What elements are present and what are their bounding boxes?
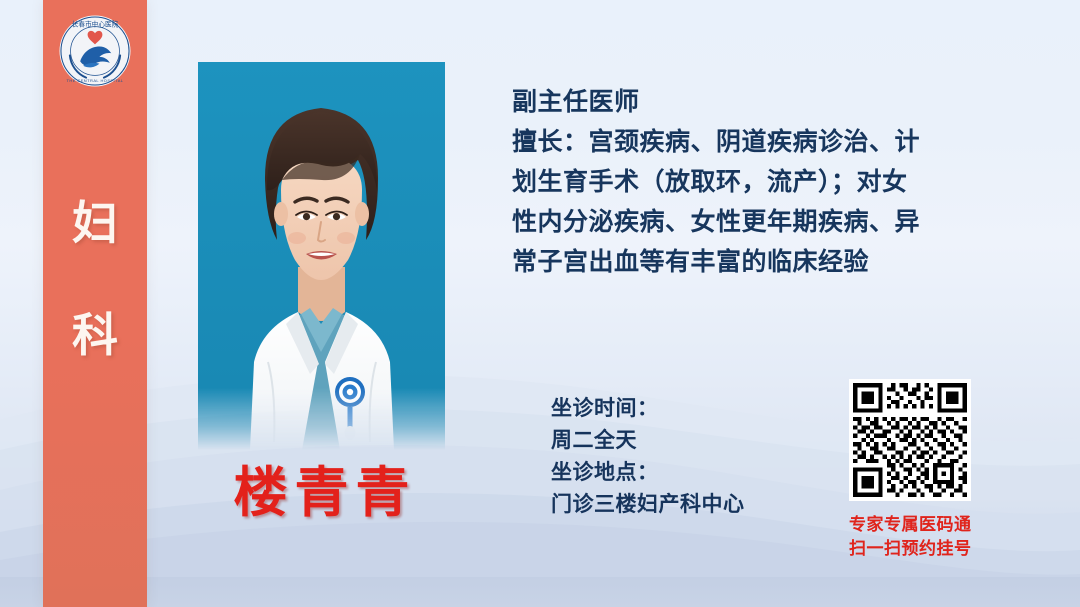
schedule-time-value: 周二全天	[551, 424, 745, 456]
department-char-1: 妇	[43, 168, 147, 280]
schedule-location-value: 门诊三楼妇产科中心	[551, 488, 745, 520]
specialty-line-1: 擅长：宫颈疾病、阴道疾病诊治、计	[512, 123, 982, 163]
schedule-block: 坐诊时间： 周二全天 坐诊地点： 门诊三楼妇产科中心	[551, 392, 745, 520]
schedule-time-label: 坐诊时间：	[551, 392, 745, 424]
doctor-name: 楼青青	[198, 448, 445, 527]
qr-code-icon[interactable]	[849, 379, 971, 501]
svg-text:长春市中心医院: 长春市中心医院	[72, 20, 119, 29]
doctor-photo-image	[198, 62, 445, 450]
department-panel: 长春市中心医院 THE CENTRAL HOSPITAL 妇 科	[43, 0, 147, 607]
specialty-line-3: 性内分泌疾病、女性更年期疾病、异	[512, 203, 982, 243]
department-name: 妇 科	[43, 168, 147, 392]
department-char-2: 科	[43, 280, 147, 392]
qr-block: 专家专属医码通 扫一扫预约挂号	[849, 379, 971, 561]
specialty-line-4: 常子宫出血等有丰富的临床经验	[512, 243, 982, 283]
doctor-profile-card: 长春市中心医院 THE CENTRAL HOSPITAL 妇 科	[0, 0, 1080, 607]
background-bottom-band	[0, 577, 1080, 607]
svg-text:THE CENTRAL HOSPITAL: THE CENTRAL HOSPITAL	[67, 78, 124, 83]
qr-caption-line-2: 扫一扫预约挂号	[849, 537, 971, 561]
doctor-bio: 副主任医师 擅长：宫颈疾病、阴道疾病诊治、计 划生育手术（放取环，流产）；对女 …	[512, 83, 982, 283]
hospital-logo-icon: 长春市中心医院 THE CENTRAL HOSPITAL	[58, 14, 132, 88]
qr-caption: 专家专属医码通 扫一扫预约挂号	[849, 513, 971, 561]
doctor-photo	[198, 62, 445, 450]
specialty-line-2: 划生育手术（放取环，流产）；对女	[512, 163, 982, 203]
doctor-title: 副主任医师	[512, 83, 982, 123]
qr-caption-line-1: 专家专属医码通	[849, 513, 971, 537]
schedule-location-label: 坐诊地点：	[551, 456, 745, 488]
